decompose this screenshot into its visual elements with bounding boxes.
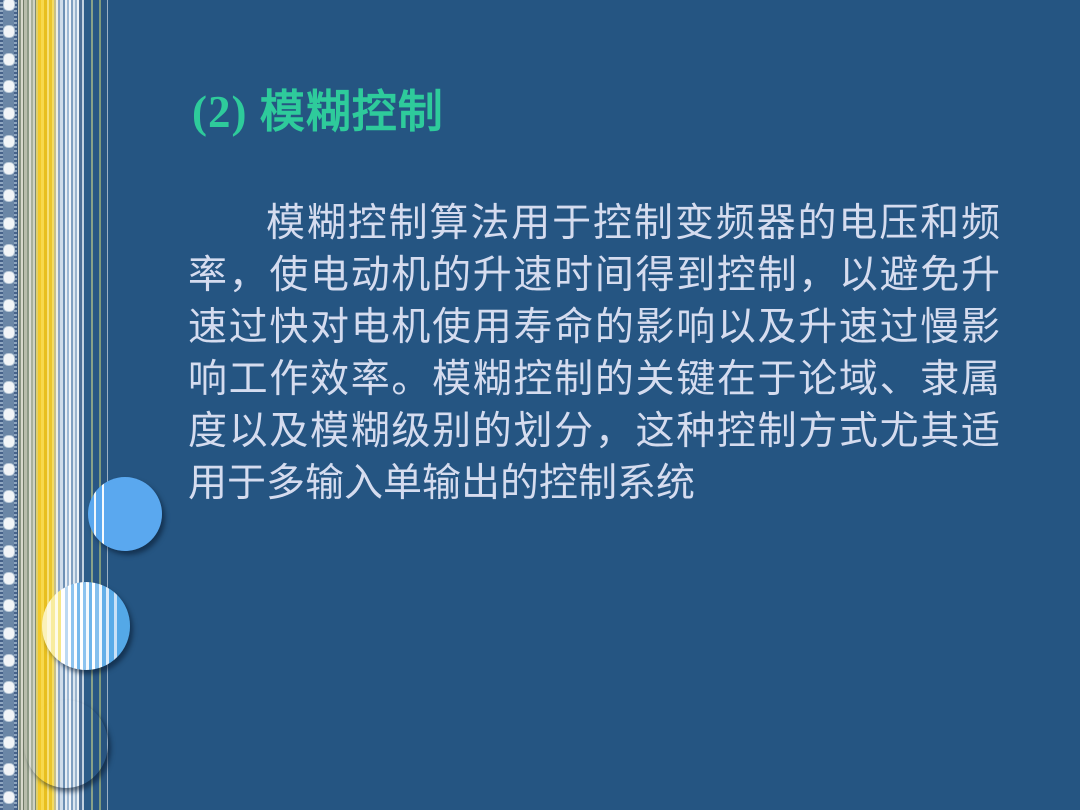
page-title: (2) 模糊控制: [192, 88, 444, 138]
slide-content: (2) 模糊控制 模糊控制算法用于控制变频器的电压和频率，使电动机的升速时间得到…: [0, 0, 1080, 810]
presentation-slide: (2) 模糊控制 模糊控制算法用于控制变频器的电压和频率，使电动机的升速时间得到…: [0, 0, 1080, 810]
slide-body-text: 模糊控制算法用于控制变频器的电压和频率，使电动机的升速时间得到控制，以避免升速过…: [188, 198, 1000, 510]
